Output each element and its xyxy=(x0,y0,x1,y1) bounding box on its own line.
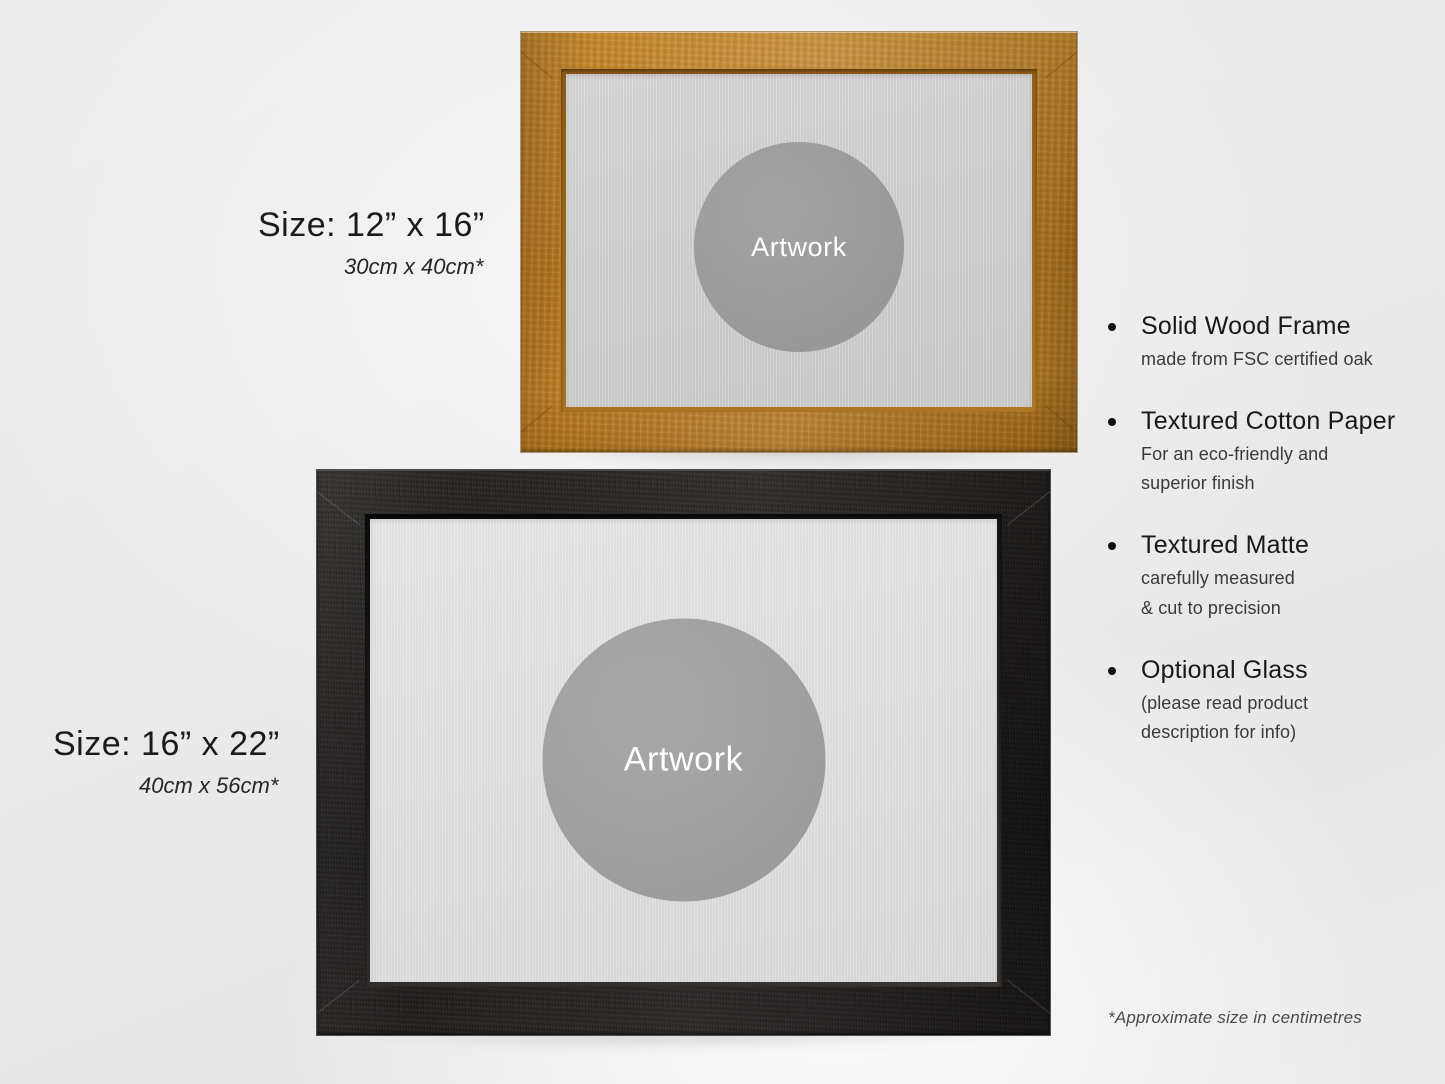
feature-list: Solid Wood Frame made from FSC certified… xyxy=(1103,312,1423,780)
black-frame-mount: Artwork xyxy=(370,519,997,982)
mitre-joint-top-right-icon xyxy=(1046,32,1077,78)
feature-title: Solid Wood Frame xyxy=(1141,312,1423,340)
bullet-dot-icon xyxy=(1108,667,1116,675)
mitre-joint-top-left-icon xyxy=(317,470,360,525)
oak-frame-mount: Artwork xyxy=(566,74,1032,407)
size-label-oak: Size: 12” x 16” 30cm x 40cm* xyxy=(258,206,485,280)
size-metric-black: 40cm x 56cm* xyxy=(139,773,280,799)
feature-item-solid-wood-frame: Solid Wood Frame made from FSC certified… xyxy=(1103,312,1423,374)
bullet-dot-icon xyxy=(1108,323,1116,331)
mitre-joint-bottom-left-icon xyxy=(317,980,360,1035)
mitre-joint-bottom-left-icon xyxy=(521,406,552,452)
size-metric-oak: 30cm x 40cm* xyxy=(344,254,485,280)
feature-description: made from FSC certified oak xyxy=(1141,345,1423,374)
bullet-dot-icon xyxy=(1108,418,1116,426)
feature-title: Textured Cotton Paper xyxy=(1141,407,1423,435)
mitre-joint-top-right-icon xyxy=(1007,470,1050,525)
feature-item-optional-glass: Optional Glass (please read productdescr… xyxy=(1103,656,1423,747)
infographic-canvas: Artwork Artwork Size: 12” x 16” 30cm x 4… xyxy=(0,0,1445,1084)
footnote-approximate-size: *Approximate size in centimetres xyxy=(1108,1008,1362,1028)
feature-description: carefully measured& cut to precision xyxy=(1141,564,1423,622)
mitre-joint-bottom-right-icon xyxy=(1046,406,1077,452)
artwork-placeholder-black: Artwork xyxy=(542,618,825,901)
feature-description: For an eco-friendly andsuperior finish xyxy=(1141,440,1423,498)
framed-artwork-black[interactable]: Artwork xyxy=(317,470,1050,1035)
size-imperial-oak: Size: 12” x 16” xyxy=(258,206,485,245)
bullet-dot-icon xyxy=(1108,542,1116,550)
artwork-placeholder-label: Artwork xyxy=(751,234,847,261)
size-imperial-black: Size: 16” x 22” xyxy=(53,725,280,764)
artwork-placeholder-label: Artwork xyxy=(624,743,743,777)
feature-description: (please read productdescription for info… xyxy=(1141,689,1423,747)
feature-item-textured-matte: Textured Matte carefully measured& cut t… xyxy=(1103,531,1423,622)
mitre-joint-bottom-right-icon xyxy=(1007,980,1050,1035)
mitre-joint-top-left-icon xyxy=(521,32,552,78)
framed-artwork-oak[interactable]: Artwork xyxy=(521,32,1077,452)
artwork-placeholder-oak: Artwork xyxy=(694,142,904,352)
feature-title: Textured Matte xyxy=(1141,531,1423,559)
size-label-black: Size: 16” x 22” 40cm x 56cm* xyxy=(53,725,280,799)
feature-item-textured-cotton-paper: Textured Cotton Paper For an eco-friendl… xyxy=(1103,407,1423,498)
feature-title: Optional Glass xyxy=(1141,656,1423,684)
